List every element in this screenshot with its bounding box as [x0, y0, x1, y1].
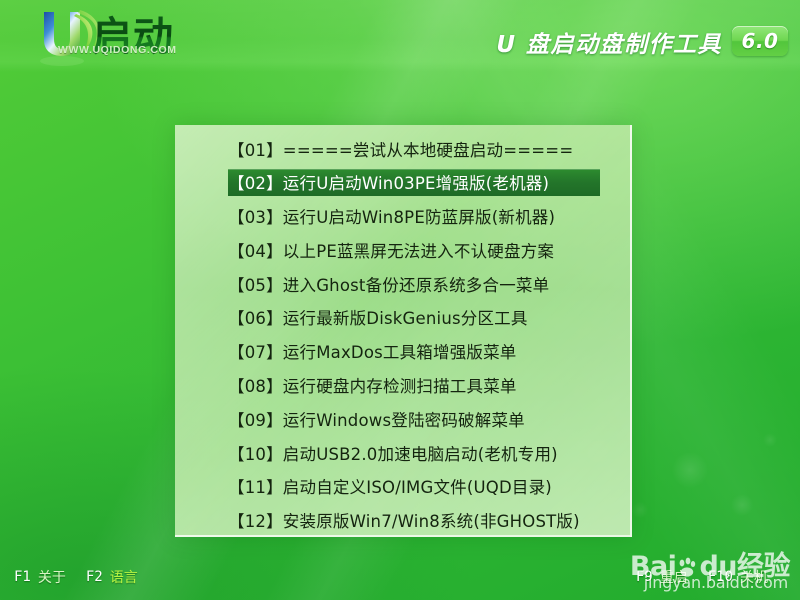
boot-menu-item[interactable]: 【01】=====尝试从本地硬盘启动=====: [175, 135, 630, 162]
function-key-label[interactable]: 语言: [110, 567, 138, 587]
function-key-label[interactable]: 关于: [38, 567, 66, 587]
logo-website-url: WWW.UQIDONG.COM: [58, 44, 177, 56]
boot-menu-item[interactable]: 【08】运行硬盘内存检测扫描工具菜单: [175, 372, 630, 399]
boot-menu-item[interactable]: 【09】运行Windows登陆密码破解菜单: [175, 405, 630, 432]
boot-menu-panel: 【01】=====尝试从本地硬盘启动=====【02】运行U启动Win03PE增…: [175, 125, 632, 537]
boot-menu-item[interactable]: 【05】进入Ghost备份还原系统多合一菜单: [175, 270, 630, 297]
footer-right-shortcuts: F9重启F10关机: [636, 567, 788, 587]
boot-menu-screen: 启动 WWW.UQIDONG.COM U 盘启动盘制作工具 6.0 【01】==…: [0, 0, 800, 600]
boot-menu-item[interactable]: 【07】运行MaxDos工具箱增强版菜单: [175, 338, 630, 365]
boot-menu-item[interactable]: 【02】运行U启动Win03PE增强版(老机器): [228, 169, 600, 196]
app-title: U 盘启动盘制作工具: [496, 25, 722, 59]
header-bar: 启动 WWW.UQIDONG.COM U 盘启动盘制作工具 6.0: [0, 0, 800, 72]
boot-menu-list[interactable]: 【01】=====尝试从本地硬盘启动=====【02】运行U启动Win03PE增…: [175, 135, 630, 541]
boot-menu-item[interactable]: 【11】启动自定义ISO/IMG文件(UQD目录): [175, 473, 630, 500]
function-key-name: F9: [636, 569, 653, 585]
footer-left-shortcuts: F1关于F2语言: [14, 567, 158, 587]
function-key-name: F1: [14, 569, 31, 585]
uqidong-logo: 启动: [18, 6, 208, 68]
footer-bar: F1关于F2语言 F9重启F10关机: [0, 558, 800, 600]
boot-menu-item[interactable]: 【06】运行最新版DiskGenius分区工具: [175, 304, 630, 331]
function-key-name: F10: [708, 569, 733, 585]
version-badge: 6.0: [732, 26, 788, 56]
boot-menu-item[interactable]: 【04】以上PE蓝黑屏无法进入不认硬盘方案: [175, 236, 630, 263]
function-key-label[interactable]: 关机: [740, 567, 768, 587]
function-key-name: F2: [86, 569, 103, 585]
version-badge-label: 6.0: [742, 29, 779, 53]
boot-menu-item[interactable]: 【03】运行U启动Win8PE防蓝屏版(新机器): [175, 203, 630, 230]
boot-menu-item[interactable]: 【12】安装原版Win7/Win8系统(非GHOST版): [175, 507, 630, 534]
function-key-label[interactable]: 重启: [660, 567, 688, 587]
boot-menu-item[interactable]: 【10】启动USB2.0加速电脑启动(老机专用): [175, 439, 630, 466]
